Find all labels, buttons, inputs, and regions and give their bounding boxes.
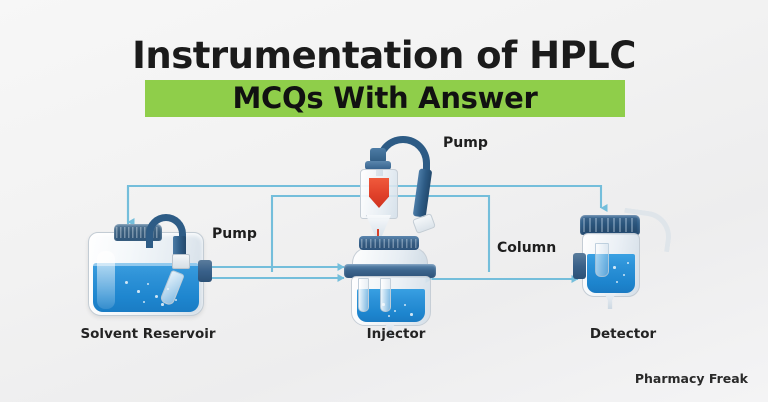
reservoir-tube-connector: [172, 254, 190, 269]
injector-inner-tubes: [358, 278, 394, 312]
solvent-reservoir: [88, 222, 208, 314]
detector-inlet-port: [573, 253, 586, 279]
detector-inner-tube: [595, 243, 609, 277]
pump-chamber: [360, 169, 398, 219]
injector-unit: [336, 136, 456, 321]
detector-drain: [604, 293, 616, 309]
watermark: Pharmacy Freak: [635, 371, 748, 386]
injector-neck-ridges: [361, 239, 417, 248]
detector-unit: [566, 215, 676, 321]
detector-body: [582, 233, 640, 297]
hplc-infographic: Instrumentation of HPLC MCQs With Answer: [0, 0, 768, 402]
label-pump-left: Pump: [212, 226, 257, 242]
label-column: Column: [497, 240, 556, 256]
reservoir-outlet-port: [198, 260, 212, 282]
label-solvent-reservoir: Solvent Reservoir: [48, 326, 248, 342]
detector-cap-ridges: [583, 218, 637, 232]
reservoir-gloss: [97, 251, 115, 309]
label-detector: Detector: [538, 326, 708, 342]
label-injector: Injector: [316, 326, 476, 342]
pump-red-fluid: [369, 178, 389, 208]
